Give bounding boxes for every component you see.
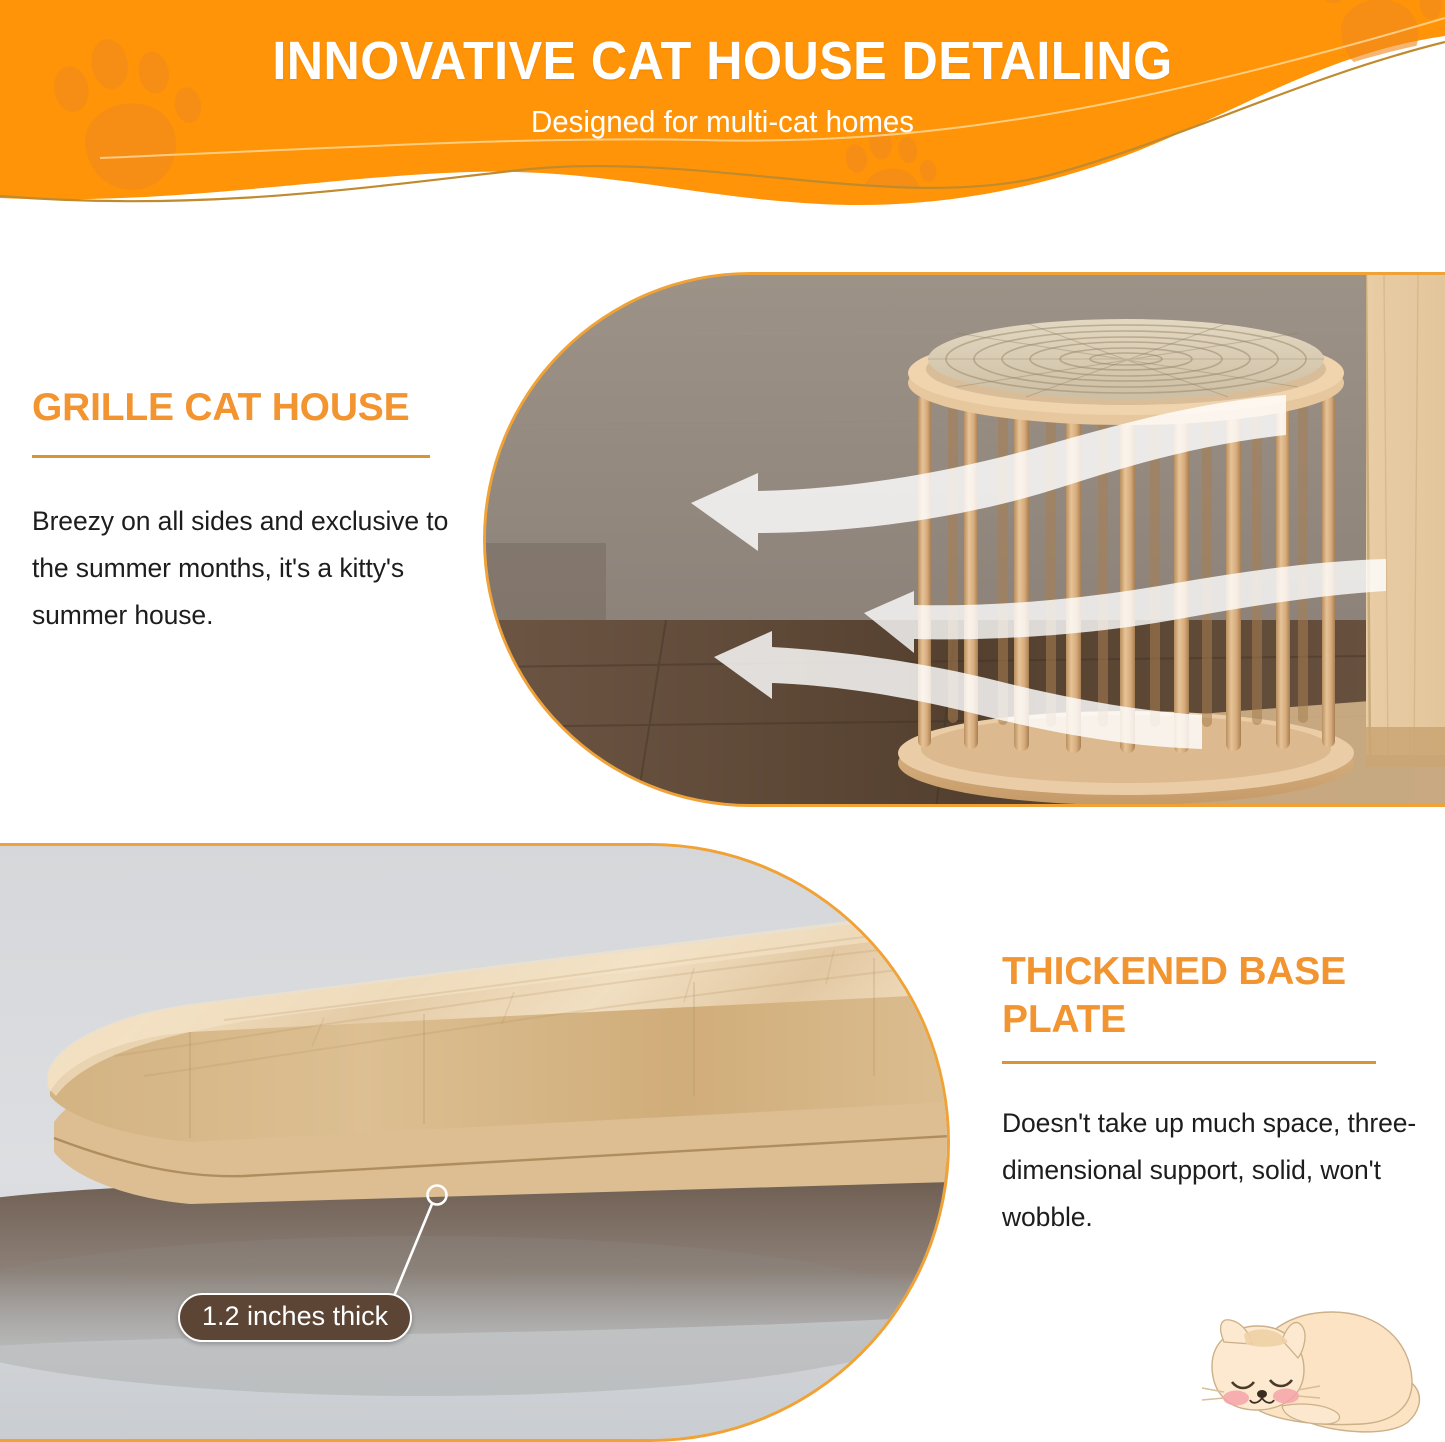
- section-grille-cat-house-text: GRILLE CAT HOUSE Breezy on all sides and…: [32, 386, 482, 639]
- section-title-grille: GRILLE CAT HOUSE: [32, 386, 482, 430]
- section-thickened-base-plate-text: THICKENED BASE PLATE Doesn't take up muc…: [1002, 948, 1432, 1242]
- section-title-base-plate: THICKENED BASE PLATE: [1002, 948, 1432, 1043]
- header-banner: INNOVATIVE CAT HOUSE DETAILING Designed …: [0, 0, 1445, 232]
- section-body-grille: Breezy on all sides and exclusive to the…: [32, 498, 482, 639]
- woven-rope-cushion: [928, 319, 1324, 399]
- page-subtitle: Designed for multi-cat homes: [36, 106, 1409, 137]
- cat-blush-right: [1273, 1389, 1299, 1404]
- cat-body-group: [1202, 1312, 1419, 1432]
- section-rule-base-plate: [1002, 1061, 1376, 1064]
- cat-blush-left: [1223, 1391, 1249, 1406]
- house-side-panel: [1366, 275, 1445, 755]
- photo-thickened-base-plate: [0, 843, 950, 1442]
- cat-nose: [1257, 1390, 1267, 1398]
- callout-thickness-badge: 1.2 inches thick: [178, 1293, 412, 1342]
- photo-grille-cat-house: [483, 272, 1445, 807]
- base-plate-illustration: [0, 846, 950, 1442]
- callout-line: [394, 1204, 432, 1296]
- callout-anchor-circle: [428, 1186, 447, 1205]
- header-text-block: INNOVATIVE CAT HOUSE DETAILING Designed …: [0, 0, 1445, 137]
- section-rule-grille: [32, 455, 430, 458]
- grille-cat-house-illustration: [486, 275, 1445, 807]
- infographic-page: INNOVATIVE CAT HOUSE DETAILING Designed …: [0, 0, 1445, 1442]
- callout-leader-line: [380, 1180, 490, 1310]
- sleeping-cat-icon: [1172, 1306, 1434, 1434]
- page-title: INNOVATIVE CAT HOUSE DETAILING: [51, 34, 1395, 88]
- section-body-base-plate: Doesn't take up much space, three-dimens…: [1002, 1100, 1432, 1241]
